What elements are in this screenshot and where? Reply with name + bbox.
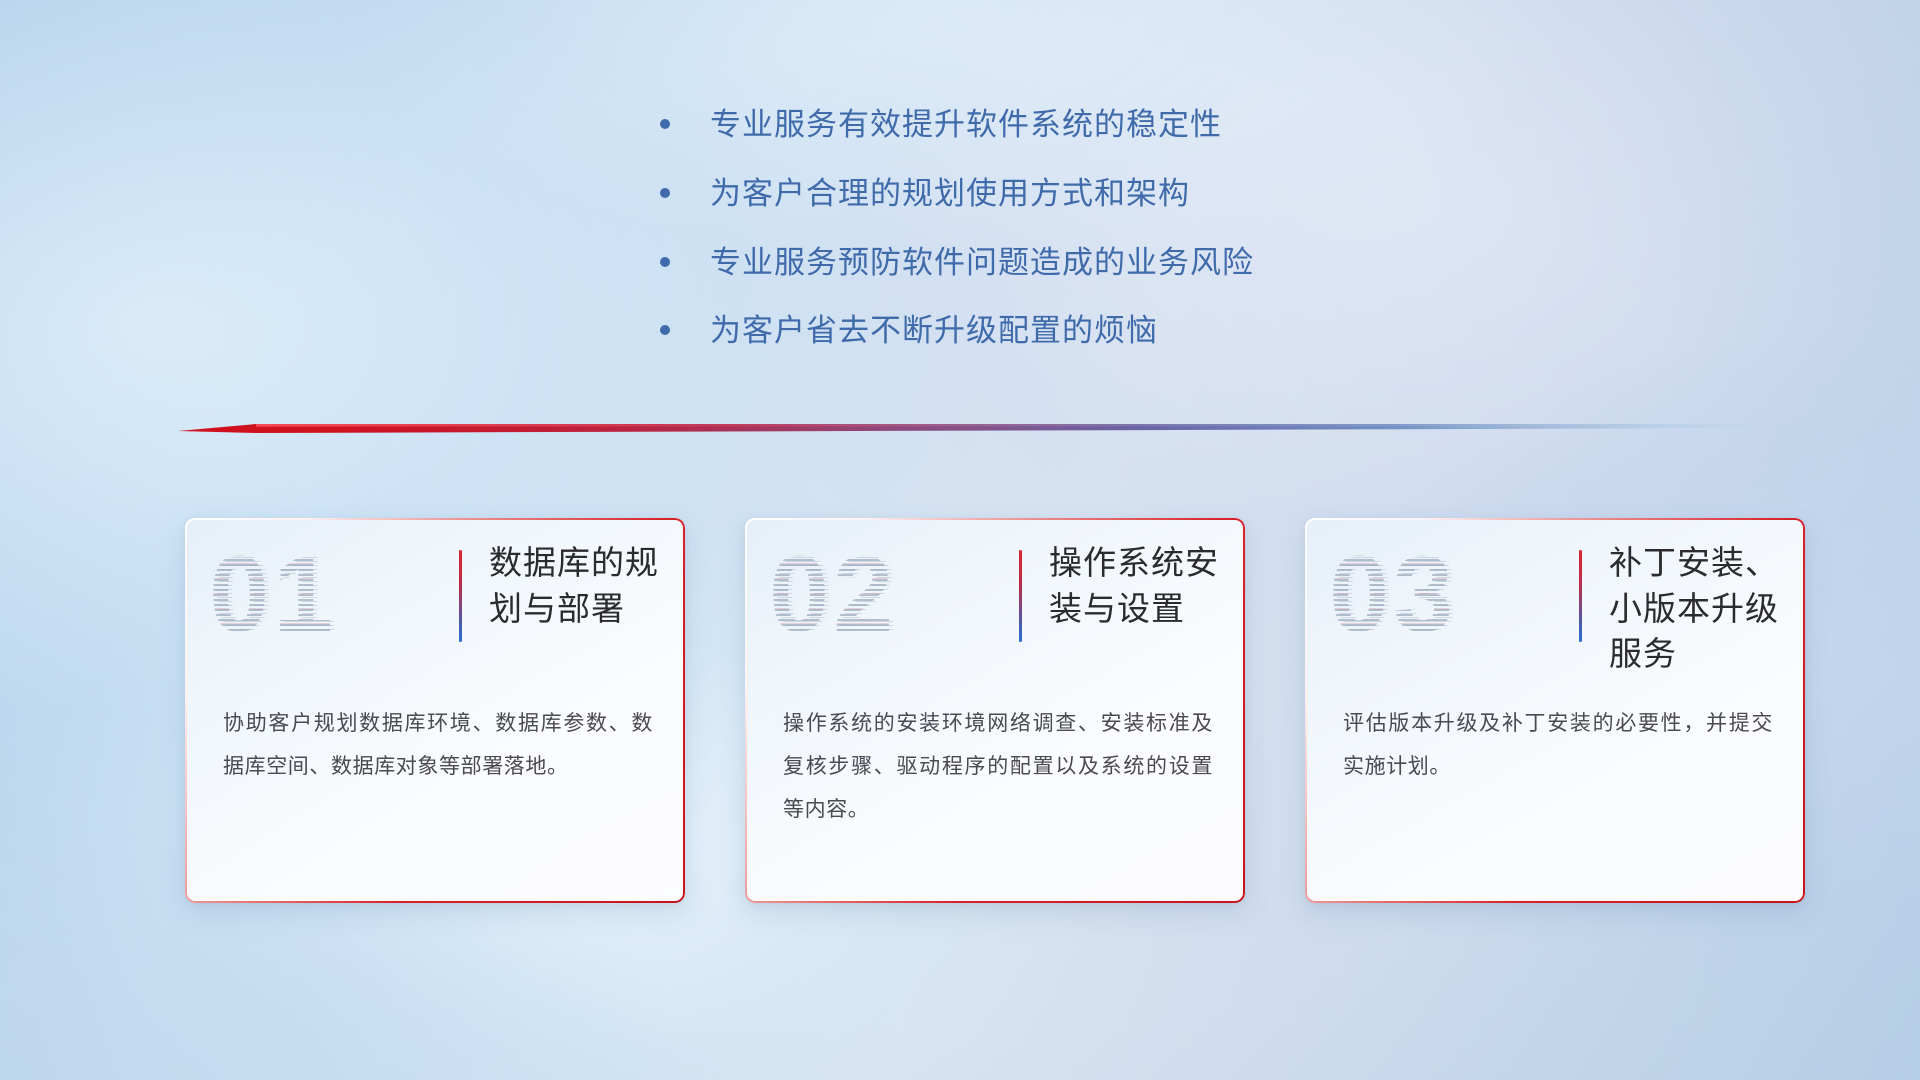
service-card[interactable]: 03 03 03 补丁安装、小版本升级服务 评估版本升级及补丁安装的必要性，并提… [1305,518,1805,903]
list-item: 专业服务有效提升软件系统的稳定性 [660,106,1560,145]
list-item: 为客户合理的规划使用方式和架构 [660,175,1560,214]
card-title: 数据库的规划与部署 [489,540,667,631]
card-divider-rule [459,550,462,642]
bullet-text: 为客户省去不断升级配置的烦恼 [710,312,1158,351]
bullet-text: 专业服务有效提升软件系统的稳定性 [710,106,1222,145]
section-divider [178,418,1778,440]
card-inner: 03 03 03 补丁安装、小版本升级服务 评估版本升级及补丁安装的必要性，并提… [1307,520,1803,901]
benefit-bullet-list: 专业服务有效提升软件系统的稳定性 为客户合理的规划使用方式和架构 专业服务预防软… [660,106,1560,381]
list-item: 为客户省去不断升级配置的烦恼 [660,312,1560,351]
bullet-dot-icon [660,188,670,198]
service-card[interactable]: 02 02 02 操作系统安装与设置 操作系统的安装环境网络调查、安装标准及复核… [745,518,1245,903]
bullet-dot-icon [660,325,670,335]
divider-shape-icon [178,418,1778,440]
card-body-text: 协助客户规划数据库环境、数据库参数、数据库空间、数据库对象等部署落地。 [223,702,653,788]
card-number-watermark-tint: 02 [769,534,997,654]
card-body-text: 评估版本升级及补丁安装的必要性，并提交实施计划。 [1343,702,1773,788]
card-divider-rule [1019,550,1022,642]
card-body-text: 操作系统的安装环境网络调查、安装标准及复核步骤、驱动程序的配置以及系统的设置等内… [783,702,1213,831]
card-title: 补丁安装、小版本升级服务 [1609,540,1787,677]
card-inner: 01 01 01 数据库的规划与部署 协助客户规划数据库环境、数据库参数、数据库… [187,520,683,901]
service-card[interactable]: 01 01 01 数据库的规划与部署 协助客户规划数据库环境、数据库参数、数据库… [185,518,685,903]
slide-canvas: 专业服务有效提升软件系统的稳定性 为客户合理的规划使用方式和架构 专业服务预防软… [0,0,1920,1080]
card-title: 操作系统安装与设置 [1049,540,1227,631]
card-number-watermark-tint: 01 [209,534,437,654]
bullet-text: 为客户合理的规划使用方式和架构 [710,175,1190,214]
list-item: 专业服务预防软件问题造成的业务风险 [660,244,1560,283]
bullet-text: 专业服务预防软件问题造成的业务风险 [710,244,1254,283]
service-card-row: 01 01 01 数据库的规划与部署 协助客户规划数据库环境、数据库参数、数据库… [185,518,1805,918]
card-inner: 02 02 02 操作系统安装与设置 操作系统的安装环境网络调查、安装标准及复核… [747,520,1243,901]
card-number-watermark-tint: 03 [1329,534,1557,654]
bullet-dot-icon [660,257,670,267]
bullet-dot-icon [660,119,670,129]
card-divider-rule [1579,550,1582,642]
